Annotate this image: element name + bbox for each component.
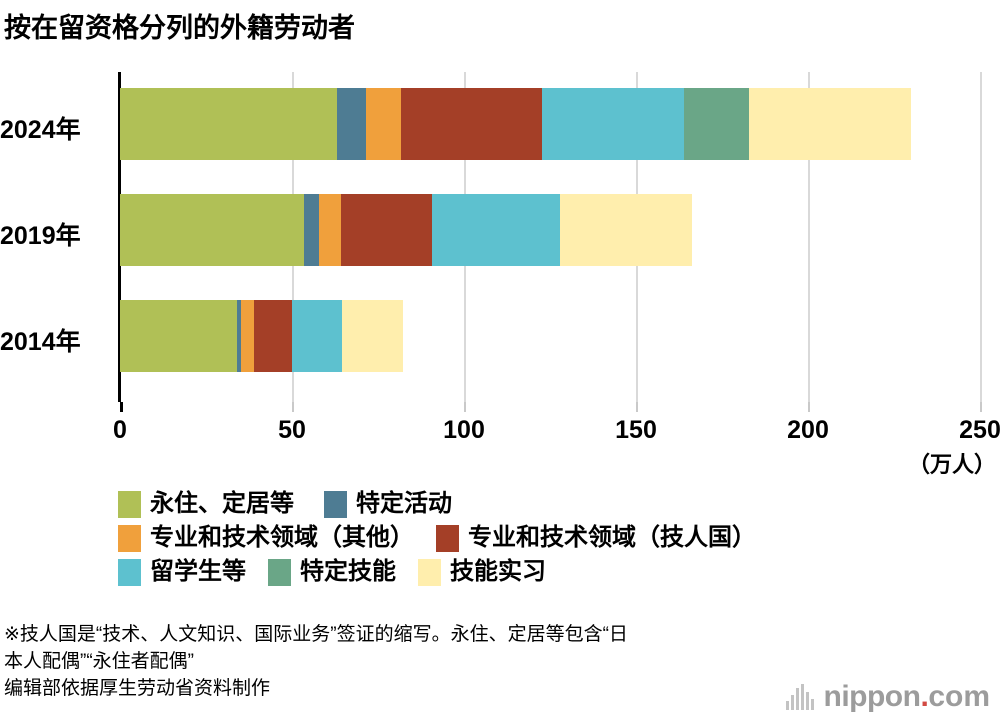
nippon-com-logo[interactable]: nippon . com [786, 680, 991, 714]
legend-item-designated-activities[interactable]: 特定活动 [324, 491, 452, 518]
legend-item-professional-other[interactable]: 专业和技术领域（其他） [118, 525, 414, 552]
bar-2024年 [120, 88, 911, 160]
legend-label: 专业和技术领域（技人国） [468, 526, 756, 550]
legend-label: 留学生等 [150, 560, 246, 584]
bar-segment [432, 194, 559, 266]
x-tick-label: 0 [113, 416, 127, 445]
waveform-icon [786, 684, 816, 710]
chart-page: 按在留资格分列的外籍劳动者 050100150200250 （万人） 永住、定居… [0, 0, 1000, 722]
legend-item-permanent-resident[interactable]: 永住、定居等 [118, 491, 294, 518]
legend-row-3: 留学生等 特定技能 技能实习 [118, 555, 988, 589]
legend-label: 特定活动 [356, 492, 452, 516]
page-title: 按在留资格分列的外籍劳动者 [4, 6, 355, 45]
legend-row-1: 永住、定居等 特定活动 [118, 487, 988, 521]
legend-row-2: 专业和技术领域（其他） 专业和技术领域（技人国） [118, 521, 988, 555]
x-tick-label: 250 [959, 416, 1000, 445]
bar-segment [341, 194, 432, 266]
plot-area [120, 72, 980, 402]
footnote-line: ※技人国是“技术、人文知识、国际业务”签证的缩写。永住、定居等包含“日 [4, 622, 794, 649]
bar-segment [401, 88, 542, 160]
footnote-line: 编辑部依据厚生劳动省资料制作 [4, 676, 794, 703]
bar-segment [120, 194, 304, 266]
chart-legend: 永住、定居等 特定活动 专业和技术领域（其他） 专业和技术领域（技人国） 留学生 [118, 487, 988, 589]
x-tick-mark [292, 402, 294, 412]
bar-segment [120, 88, 337, 160]
logo-text: nippon [824, 680, 921, 714]
bar-segment [337, 88, 366, 160]
bar-segment [241, 300, 254, 372]
legend-label: 专业和技术领域（其他） [150, 526, 414, 550]
bar-segment [304, 194, 319, 266]
legend-item-professional-engineer[interactable]: 专业和技术领域（技人国） [436, 525, 756, 552]
x-tick-label: 100 [443, 416, 485, 445]
legend-swatch-icon [118, 525, 141, 552]
legend-swatch-icon [118, 491, 141, 518]
x-tick-mark [464, 402, 466, 412]
footnote-line: 本人配偶”“永住者配偶” [4, 649, 794, 676]
legend-label: 特定技能 [300, 560, 396, 584]
legend-swatch-icon [324, 491, 347, 518]
bar-2014年 [120, 300, 403, 372]
x-tick-mark [120, 402, 123, 412]
legend-item-specified-skilled[interactable]: 特定技能 [268, 559, 396, 586]
x-tick-label: 150 [615, 416, 657, 445]
legend-swatch-icon [118, 559, 141, 586]
x-tick-mark [980, 402, 982, 412]
legend-item-students[interactable]: 留学生等 [118, 559, 246, 586]
legend-swatch-icon [436, 525, 459, 552]
bar-segment [684, 88, 749, 160]
bar-segment [319, 194, 341, 266]
legend-swatch-icon [268, 559, 291, 586]
y-axis-label-2019年: 2019年 [0, 216, 112, 252]
logo-tld: com [928, 680, 990, 714]
bar-segment [542, 88, 684, 160]
bar-segment [292, 300, 342, 372]
legend-label: 技能实习 [450, 560, 546, 584]
legend-swatch-icon [418, 559, 441, 586]
y-axis-label-2014年: 2014年 [0, 322, 112, 358]
bar-segment [366, 88, 401, 160]
x-tick-mark [808, 402, 810, 412]
bar-segment [560, 194, 692, 266]
footnote: ※技人国是“技术、人文知识、国际业务”签证的缩写。永住、定居等包含“日 本人配偶… [4, 622, 794, 703]
legend-label: 永住、定居等 [150, 492, 294, 516]
bar-2019年 [120, 194, 692, 266]
logo-dot: . [920, 680, 928, 714]
gridline [980, 72, 982, 402]
y-axis-label-2024年: 2024年 [0, 110, 112, 146]
bar-segment [120, 300, 237, 372]
legend-item-technical-intern[interactable]: 技能实习 [418, 559, 546, 586]
bar-segment [342, 300, 403, 372]
x-axis-unit-label: （万人） [908, 447, 996, 479]
bar-segment [254, 300, 292, 372]
x-tick-label: 50 [278, 416, 306, 445]
x-tick-mark [636, 402, 638, 412]
bar-segment [749, 88, 911, 160]
x-tick-label: 200 [787, 416, 829, 445]
